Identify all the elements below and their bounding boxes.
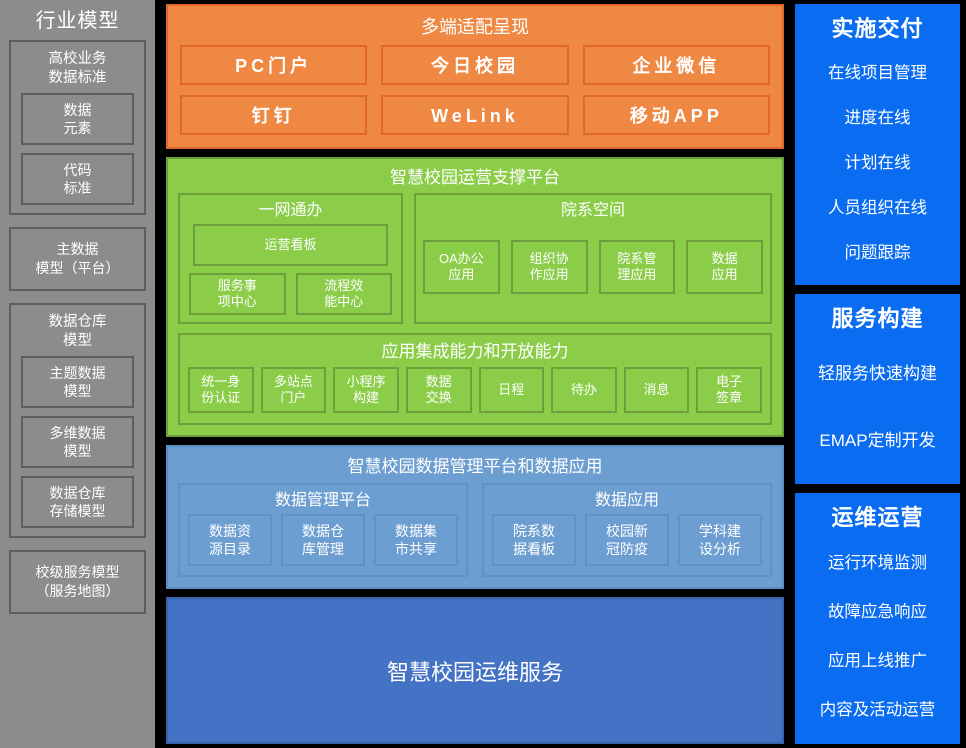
right-item-light-service-rapid-build[interactable]: 轻服务快速构建: [799, 340, 956, 407]
right-item-application-launch-promotion[interactable]: 应用上线推广: [799, 637, 956, 686]
blue-item-faculty-data-dashboard[interactable]: 院系数 据看板: [492, 514, 576, 566]
right-block-implementation-delivery: 实施交付 在线项目管理 进度在线 计划在线 人员组织在线 问题跟踪: [795, 4, 960, 285]
blue-group-items: 数据资 源目录 数据仓 库管理 数据集 市共享: [188, 514, 458, 566]
right-item-fault-emergency-response[interactable]: 故障应急响应: [799, 588, 956, 637]
right-block-service-construction: 服务构建 轻服务快速构建 EMAP定制开发: [795, 294, 960, 484]
green-group-faculty-space[interactable]: 院系空间 OA办公 应用 组织协 作应用 院系管 理应用 数据 应用: [414, 193, 772, 324]
right-block-operation-maintenance: 运维运营 运行环境监测 故障应急响应 应用上线推广 内容及活动运营: [795, 493, 960, 744]
green-item-faculty-management-app[interactable]: 院系管 理应用: [599, 240, 676, 294]
right-item-personnel-organization-online[interactable]: 人员组织在线: [799, 185, 956, 230]
orange-item-wecom[interactable]: 企业微信: [583, 45, 770, 85]
left-sidebar: 行业模型 高校业务 数据标准 数据 元素 代码 标准 主数据 模型（平台） 数据…: [0, 0, 155, 748]
right-item-content-activity-operation[interactable]: 内容及活动运营: [799, 685, 956, 734]
orange-item-welink[interactable]: WeLink: [381, 95, 568, 135]
green-item-schedule[interactable]: 日程: [479, 367, 545, 413]
blue-groups-row: 数据管理平台 数据资 源目录 数据仓 库管理 数据集 市共享 数据应用 院系数 …: [178, 483, 772, 577]
blue-item-campus-covid-prevention[interactable]: 校园新 冠防疫: [585, 514, 669, 566]
green-groups-row: 一网通办 运营看板 服务事 项中心 流程效 能中心 院系空间 OA办公 应用 组…: [178, 193, 772, 324]
left-subitem-multidimensional-data-model[interactable]: 多维数据 模型: [21, 416, 134, 468]
green-group-one-net[interactable]: 一网通办 运营看板 服务事 项中心 流程效 能中心: [178, 193, 403, 324]
panel-operation-support-platform: 智慧校园运营支撑平台 一网通办 运营看板 服务事 项中心 流程效 能中心 院系空…: [166, 157, 784, 437]
panel-title: 智慧校园数据管理平台和数据应用: [178, 451, 772, 483]
left-subitem-data-element[interactable]: 数据 元素: [21, 93, 134, 145]
blue-group-items: 院系数 据看板 校园新 冠防疫 学科建 设分析: [492, 514, 762, 566]
orange-item-dingtalk[interactable]: 钉钉: [180, 95, 367, 135]
panel-multi-terminal-presentation: 多端适配呈现 PC门户 今日校园 企业微信 钉钉 WeLink 移动APP: [166, 4, 784, 149]
green-item-multisite-portal[interactable]: 多站点 门户: [261, 367, 327, 413]
center-column: 多端适配呈现 PC门户 今日校园 企业微信 钉钉 WeLink 移动APP 智慧…: [155, 0, 790, 748]
left-subitem-warehouse-storage-model[interactable]: 数据仓库 存储模型: [21, 476, 134, 528]
right-item-progress-online[interactable]: 进度在线: [799, 95, 956, 140]
right-item-issue-tracking[interactable]: 问题跟踪: [799, 230, 956, 275]
green-item-operation-dashboard[interactable]: 运营看板: [193, 224, 388, 266]
left-subitem-code-standard[interactable]: 代码 标准: [21, 153, 134, 205]
right-item-plan-online[interactable]: 计划在线: [799, 140, 956, 185]
blue-item-data-warehouse-management[interactable]: 数据仓 库管理: [281, 514, 365, 566]
green-item-electronic-seal[interactable]: 电子 签章: [696, 367, 762, 413]
green-item-todo[interactable]: 待办: [551, 367, 617, 413]
left-sidebar-title: 行业模型: [9, 6, 146, 40]
green-group-title: 一网通办: [187, 197, 394, 224]
blue-group-title: 数据管理平台: [188, 487, 458, 514]
blue-group-title: 数据应用: [492, 487, 762, 514]
green-item-unified-identity-auth[interactable]: 统一身 份认证: [188, 367, 254, 413]
green-group-integration-capability[interactable]: 应用集成能力和开放能力 统一身 份认证 多站点 门户 小程序 构建 数据 交换 …: [178, 333, 772, 425]
green-item-oa-office-app[interactable]: OA办公 应用: [423, 240, 500, 294]
green-item-org-collaboration-app[interactable]: 组织协 作应用: [511, 240, 588, 294]
green-group-title: 应用集成能力和开放能力: [188, 337, 762, 367]
orange-item-today-campus[interactable]: 今日校园: [381, 45, 568, 85]
green-item-miniprogram-build[interactable]: 小程序 构建: [333, 367, 399, 413]
right-block-title: 运维运营: [831, 501, 923, 539]
left-group-master-data-model[interactable]: 主数据 模型（平台）: [9, 227, 146, 291]
green-wide-items: 统一身 份认证 多站点 门户 小程序 构建 数据 交换 日程 待办 消息 电子 …: [188, 367, 762, 413]
right-item-online-project-management[interactable]: 在线项目管理: [799, 50, 956, 95]
blue-group-data-management-platform[interactable]: 数据管理平台 数据资 源目录 数据仓 库管理 数据集 市共享: [178, 483, 468, 577]
green-left-item-pair: 服务事 项中心 流程效 能中心: [189, 273, 392, 315]
green-item-process-efficiency-center[interactable]: 流程效 能中心: [296, 273, 393, 315]
green-group-title: 院系空间: [423, 197, 763, 224]
panel-title: 智慧校园运营支撑平台: [178, 163, 772, 193]
panel-title: 多端适配呈现: [180, 12, 770, 45]
left-group-school-service-model[interactable]: 校级服务模型 （服务地图）: [9, 550, 146, 614]
right-block-title: 实施交付: [831, 12, 923, 50]
green-item-data-exchange[interactable]: 数据 交换: [406, 367, 472, 413]
right-item-runtime-environment-monitoring[interactable]: 运行环境监测: [799, 539, 956, 588]
left-group-data-warehouse-model[interactable]: 数据仓库 模型 主题数据 模型 多维数据 模型 数据仓库 存储模型: [9, 303, 146, 538]
green-item-message[interactable]: 消息: [624, 367, 690, 413]
green-right-items: OA办公 应用 组织协 作应用 院系管 理应用 数据 应用: [423, 240, 763, 294]
right-block-title: 服务构建: [831, 302, 923, 340]
panel-data-management-platform: 智慧校园数据管理平台和数据应用 数据管理平台 数据资 源目录 数据仓 库管理 数…: [166, 445, 784, 589]
panel-operation-maintenance-service[interactable]: 智慧校园运维服务: [166, 597, 784, 744]
right-sidebar: 实施交付 在线项目管理 进度在线 计划在线 人员组织在线 问题跟踪 服务构建 轻…: [790, 0, 966, 748]
orange-item-mobile-app[interactable]: 移动APP: [583, 95, 770, 135]
blue-item-data-mart-sharing[interactable]: 数据集 市共享: [374, 514, 458, 566]
left-group-title: 高校业务 数据标准: [16, 48, 139, 93]
orange-item-pc-portal[interactable]: PC门户: [180, 45, 367, 85]
architecture-diagram: 行业模型 高校业务 数据标准 数据 元素 代码 标准 主数据 模型（平台） 数据…: [0, 0, 966, 748]
left-group-title: 数据仓库 模型: [16, 311, 139, 356]
left-subitem-subject-data-model[interactable]: 主题数据 模型: [21, 356, 134, 408]
green-item-service-center[interactable]: 服务事 项中心: [189, 273, 286, 315]
panel-title: 智慧校园运维服务: [387, 655, 563, 687]
orange-item-grid: PC门户 今日校园 企业微信 钉钉 WeLink 移动APP: [180, 45, 770, 135]
blue-group-data-application[interactable]: 数据应用 院系数 据看板 校园新 冠防疫 学科建 设分析: [482, 483, 772, 577]
right-item-emap-custom-development[interactable]: EMAP定制开发: [799, 407, 956, 474]
left-group-business-data-standard[interactable]: 高校业务 数据标准 数据 元素 代码 标准: [9, 40, 146, 215]
blue-item-data-resource-catalog[interactable]: 数据资 源目录: [188, 514, 272, 566]
green-item-data-app[interactable]: 数据 应用: [686, 240, 763, 294]
blue-item-discipline-construction-analysis[interactable]: 学科建 设分析: [678, 514, 762, 566]
